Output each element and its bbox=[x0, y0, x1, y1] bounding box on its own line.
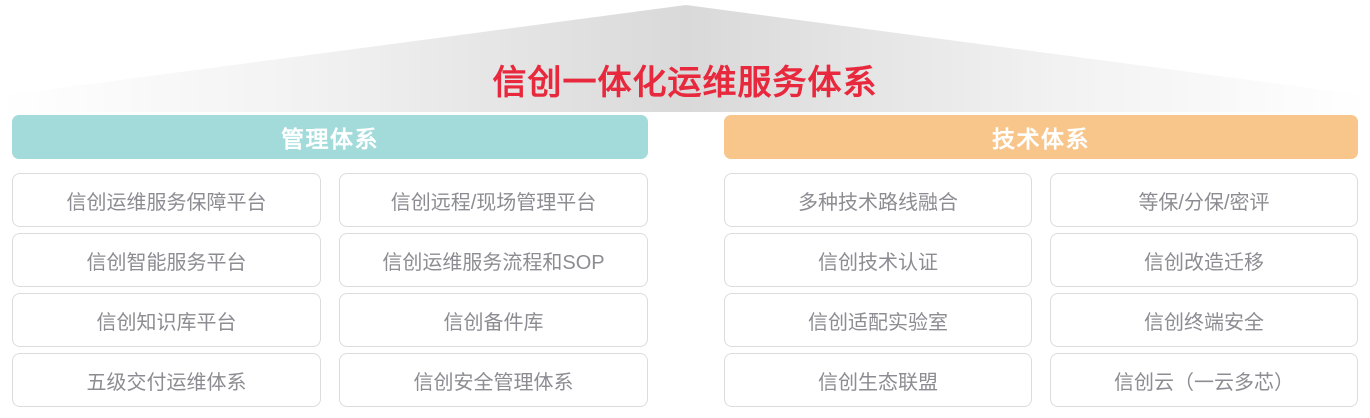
panel-management: 管理体系 信创运维服务保障平台 信创远程/现场管理平台 信创智能服务平台 信创运… bbox=[12, 115, 648, 407]
management-cell[interactable]: 信创知识库平台 bbox=[12, 293, 321, 347]
management-cell[interactable]: 信创运维服务流程和SOP bbox=[339, 233, 648, 287]
technology-cell-grid: 多种技术路线融合 等保/分保/密评 信创技术认证 信创改造迁移 信创适配实验室 … bbox=[724, 173, 1358, 407]
infographic-canvas: 信创一体化运维服务体系 管理体系 信创运维服务保障平台 信创远程/现场管理平台 … bbox=[0, 0, 1370, 418]
technology-cell[interactable]: 信创适配实验室 bbox=[724, 293, 1032, 347]
technology-cell[interactable]: 信创云（一云多芯） bbox=[1050, 353, 1358, 407]
panel-header-technology: 技术体系 bbox=[724, 115, 1358, 159]
technology-cell[interactable]: 等保/分保/密评 bbox=[1050, 173, 1358, 227]
technology-cell[interactable]: 信创技术认证 bbox=[724, 233, 1032, 287]
technology-cell[interactable]: 多种技术路线融合 bbox=[724, 173, 1032, 227]
management-cell-grid: 信创运维服务保障平台 信创远程/现场管理平台 信创智能服务平台 信创运维服务流程… bbox=[12, 173, 648, 407]
panel-technology: 技术体系 多种技术路线融合 等保/分保/密评 信创技术认证 信创改造迁移 信创适… bbox=[724, 115, 1358, 407]
technology-cell[interactable]: 信创改造迁移 bbox=[1050, 233, 1358, 287]
management-cell[interactable]: 信创智能服务平台 bbox=[12, 233, 321, 287]
page-title: 信创一体化运维服务体系 bbox=[0, 55, 1370, 104]
technology-cell[interactable]: 信创生态联盟 bbox=[724, 353, 1032, 407]
management-cell[interactable]: 信创远程/现场管理平台 bbox=[339, 173, 648, 227]
management-cell[interactable]: 五级交付运维体系 bbox=[12, 353, 321, 407]
panel-header-management: 管理体系 bbox=[12, 115, 648, 159]
management-cell[interactable]: 信创安全管理体系 bbox=[339, 353, 648, 407]
management-cell[interactable]: 信创备件库 bbox=[339, 293, 648, 347]
technology-cell[interactable]: 信创终端安全 bbox=[1050, 293, 1358, 347]
management-cell[interactable]: 信创运维服务保障平台 bbox=[12, 173, 321, 227]
